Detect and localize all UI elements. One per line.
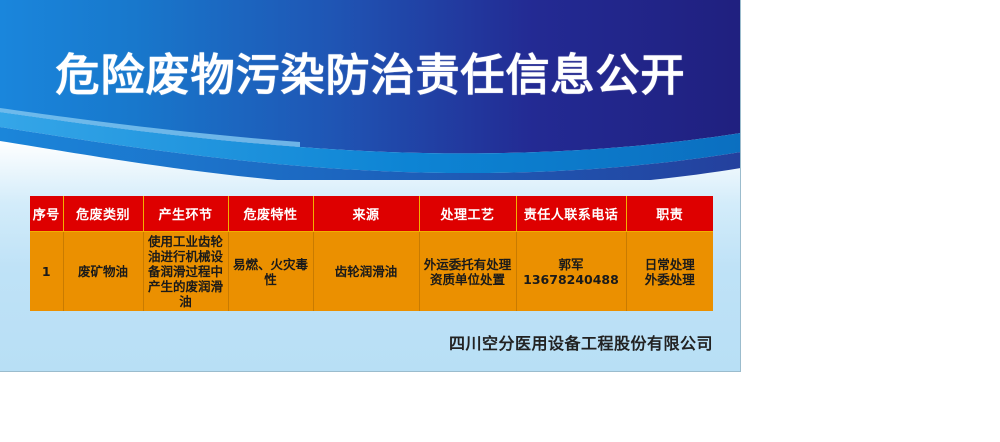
column-header-contact: 责任人联系电话 (516, 196, 626, 232)
column-header-source: 来源 (313, 196, 419, 232)
page-title: 危险废物污染防治责任信息公开 (0, 50, 741, 102)
duty-line-1: 日常处理 (630, 257, 711, 272)
column-header-index: 序号 (30, 196, 63, 232)
column-header-property: 危废特性 (228, 196, 313, 232)
contact-name: 郭军 (520, 257, 623, 272)
contact-phone: 13678240488 (520, 272, 623, 287)
column-header-stage: 产生环节 (143, 196, 228, 232)
table-row: 1 废矿物油 使用工业齿轮油进行机械设备润滑过程中产生的废润滑油 易燃、火灾毒性… (30, 232, 713, 312)
column-header-duty: 职责 (626, 196, 713, 232)
cell-category: 废矿物油 (63, 232, 143, 312)
duty-line-2: 外委处理 (630, 272, 711, 287)
cell-source: 齿轮润滑油 (313, 232, 419, 312)
column-header-category: 危废类别 (63, 196, 143, 232)
cell-treatment-process: 外运委托有处理资质单位处置 (419, 232, 516, 312)
information-disclosure-poster: 危险废物污染防治责任信息公开 序号 危废类别 产生环节 危废特性 来源 处理工艺… (0, 0, 741, 372)
column-header-treatment: 处理工艺 (419, 196, 516, 232)
poster-banner: 危险废物污染防治责任信息公开 (0, 0, 741, 180)
cell-contact: 郭军 13678240488 (516, 232, 626, 312)
cell-hazard-property: 易燃、火灾毒性 (228, 232, 313, 312)
cell-index: 1 (30, 232, 63, 312)
cell-generation-stage: 使用工业齿轮油进行机械设备润滑过程中产生的废润滑油 (143, 232, 228, 312)
company-name-footer: 四川空分医用设备工程股份有限公司 (0, 330, 713, 354)
table-header-row: 序号 危废类别 产生环节 危废特性 来源 处理工艺 责任人联系电话 职责 (30, 196, 713, 232)
cell-duty: 日常处理 外委处理 (626, 232, 713, 312)
hazardous-waste-table: 序号 危废类别 产生环节 危废特性 来源 处理工艺 责任人联系电话 职责 1 废… (30, 196, 713, 311)
